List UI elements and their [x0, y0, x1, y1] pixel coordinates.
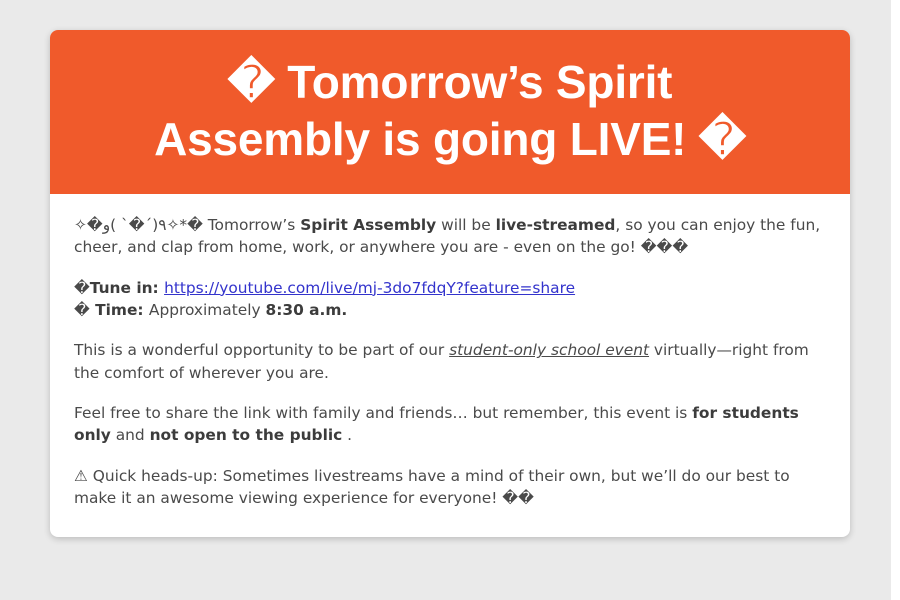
time-label: Time:	[90, 301, 149, 319]
share-text-c: .	[342, 426, 352, 444]
intro-text-a: Tomorrow’s	[203, 216, 300, 234]
time-text: Approximately	[149, 301, 266, 319]
announcement-banner: � Tomorrow’s Spirit Assembly is going LI…	[50, 30, 850, 194]
opportunity-text-a: This is a wonderful opportunity to be pa…	[74, 341, 449, 359]
paragraph-opportunity: This is a wonderful opportunity to be pa…	[74, 339, 826, 384]
tune-in-icon: �	[74, 279, 90, 297]
share-text-a: Feel free to share the link with family …	[74, 404, 692, 422]
time-icon: �	[74, 301, 90, 319]
intro-bold-live-streamed: live-streamed	[496, 216, 616, 234]
announcement-body: ✧�٩(´�` )و✧*� Tomorrow’s Spirit Assembly…	[50, 194, 850, 537]
paragraph-intro: ✧�٩(´�` )و✧*� Tomorrow’s Spirit Assembly…	[74, 214, 826, 259]
tune-in-label: Tune in:	[90, 279, 164, 297]
page-title: � Tomorrow’s Spirit Assembly is going LI…	[86, 54, 814, 168]
paragraph-heads-up: ⚠ Quick heads-up: Sometimes livestreams …	[74, 465, 826, 510]
kaomoji-sparkle-icon: ✧�٩(´�` )و✧*�	[74, 216, 203, 234]
intro-text-b: will be	[436, 216, 495, 234]
livestream-link[interactable]: https://youtube.com/live/mj-3do7fdqY?fea…	[164, 279, 575, 297]
banner-title-line-1: � Tomorrow’s Spirit	[228, 56, 673, 108]
warning-icon: ⚠	[74, 467, 88, 485]
share-bold-not-public: not open to the public	[150, 426, 343, 444]
intro-bold-spirit-assembly: Spirit Assembly	[300, 216, 436, 234]
announcement-card: � Tomorrow’s Spirit Assembly is going LI…	[50, 30, 850, 537]
share-text-b: and	[111, 426, 150, 444]
page-right-margin	[891, 0, 900, 600]
paragraph-share: Feel free to share the link with family …	[74, 402, 826, 447]
paragraph-details: �Tune in: https://youtube.com/live/mj-3d…	[74, 277, 826, 322]
heads-up-text: Quick heads-up: Sometimes livestreams ha…	[74, 467, 790, 507]
banner-title-line-2: Assembly is going LIVE! �	[154, 113, 746, 165]
time-value: 8:30 a.m.	[266, 301, 348, 319]
opportunity-emphasis: student-only school event	[449, 341, 649, 359]
heads-up-trailing-emoji-icon: ��	[502, 489, 534, 507]
intro-trailing-emoji-icon: ���	[641, 238, 688, 256]
